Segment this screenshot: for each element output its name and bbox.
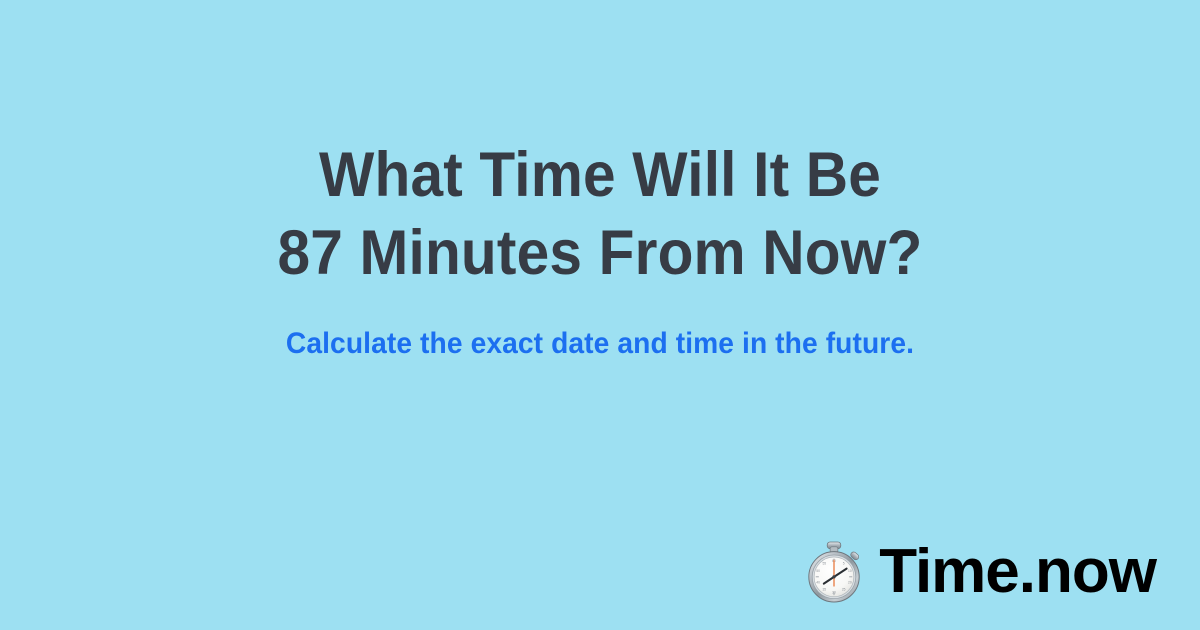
svg-text:35: 35 xyxy=(823,588,827,592)
stopwatch-icon: 60 5 10 20 25 30 35 40 50 55 xyxy=(803,540,865,604)
brand-lockup[interactable]: 60 5 10 20 25 30 35 40 50 55 xyxy=(803,540,1156,604)
svg-text:20: 20 xyxy=(848,580,852,584)
page-title: What Time Will It Be 87 Minutes From Now… xyxy=(42,136,1158,292)
svg-text:40: 40 xyxy=(816,580,820,584)
svg-text:5: 5 xyxy=(843,562,845,566)
page-title-line-1: What Time Will It Be xyxy=(42,136,1158,214)
svg-text:55: 55 xyxy=(823,562,827,566)
headline-block: What Time Will It Be 87 Minutes From Now… xyxy=(0,136,1200,292)
page-title-line-2: 87 Minutes From Now? xyxy=(42,214,1158,292)
svg-text:25: 25 xyxy=(842,588,846,592)
page-subtitle: Calculate the exact date and time in the… xyxy=(36,326,1164,362)
svg-text:50: 50 xyxy=(816,569,820,573)
brand-name: Time.now xyxy=(879,541,1156,603)
svg-text:10: 10 xyxy=(848,569,852,573)
og-card: What Time Will It Be 87 Minutes From Now… xyxy=(0,0,1200,630)
